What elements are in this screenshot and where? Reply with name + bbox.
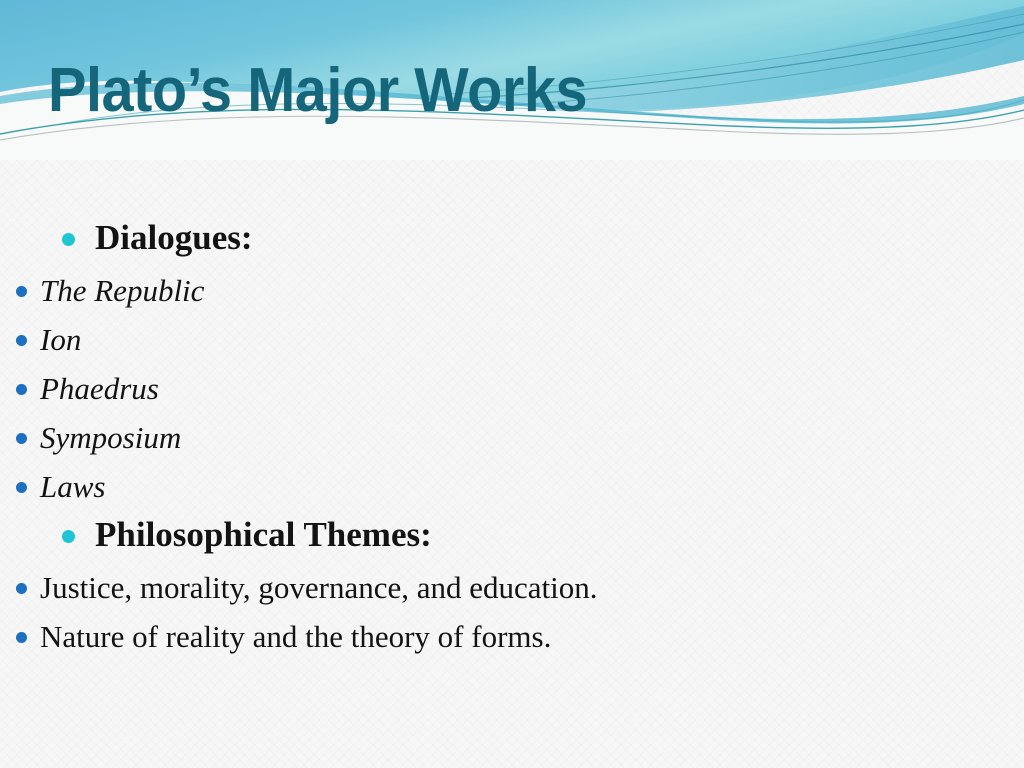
bullet-item-dialogues: Dialogues: [0, 214, 1024, 262]
list-item-label: Symposium [40, 420, 181, 455]
list-item-label: Justice, morality, governance, and educa… [40, 570, 598, 605]
slide-title: Plato’s Major Works [48, 58, 587, 123]
bullet-label: Philosophical Themes: [95, 515, 432, 554]
list-item-label: The Republic [40, 273, 204, 308]
bullet-dot-icon [16, 384, 27, 395]
bullet-dot-icon [16, 482, 27, 493]
list-item: Phaedrus [0, 364, 1024, 413]
bullet-dot-icon [16, 632, 27, 643]
bullet-dot-icon [62, 530, 75, 543]
bullet-dot-icon [62, 233, 75, 246]
list-item: Ion [0, 315, 1024, 364]
list-item-label: Ion [40, 322, 81, 357]
list-item-label: Nature of reality and the theory of form… [40, 619, 551, 654]
bullet-list-level2-dialogues: The Republic Ion Phaedrus Symposium Laws [0, 266, 1024, 511]
list-item: Nature of reality and the theory of form… [0, 612, 1024, 661]
bullet-item-philosophical-themes: Philosophical Themes: [0, 511, 1024, 559]
bullet-list-level2-themes: Justice, morality, governance, and educa… [0, 563, 1024, 661]
list-item: The Republic [0, 266, 1024, 315]
bullet-list-level1: Dialogues: The Republic Ion Phaedrus Sy [0, 214, 1024, 661]
bullet-dot-icon [16, 583, 27, 594]
bullet-dot-icon [16, 335, 27, 346]
presentation-slide: Plato’s Major Works Dialogues: The Repub… [0, 0, 1024, 768]
list-item-label: Phaedrus [40, 371, 159, 406]
list-item-label: Laws [40, 469, 105, 504]
bullet-dot-icon [16, 433, 27, 444]
list-item: Symposium [0, 413, 1024, 462]
list-item: Laws [0, 462, 1024, 511]
bullet-label: Dialogues: [95, 218, 253, 257]
slide-body: Dialogues: The Republic Ion Phaedrus Sy [0, 214, 1024, 661]
list-item: Justice, morality, governance, and educa… [0, 563, 1024, 612]
bullet-dot-icon [16, 286, 27, 297]
